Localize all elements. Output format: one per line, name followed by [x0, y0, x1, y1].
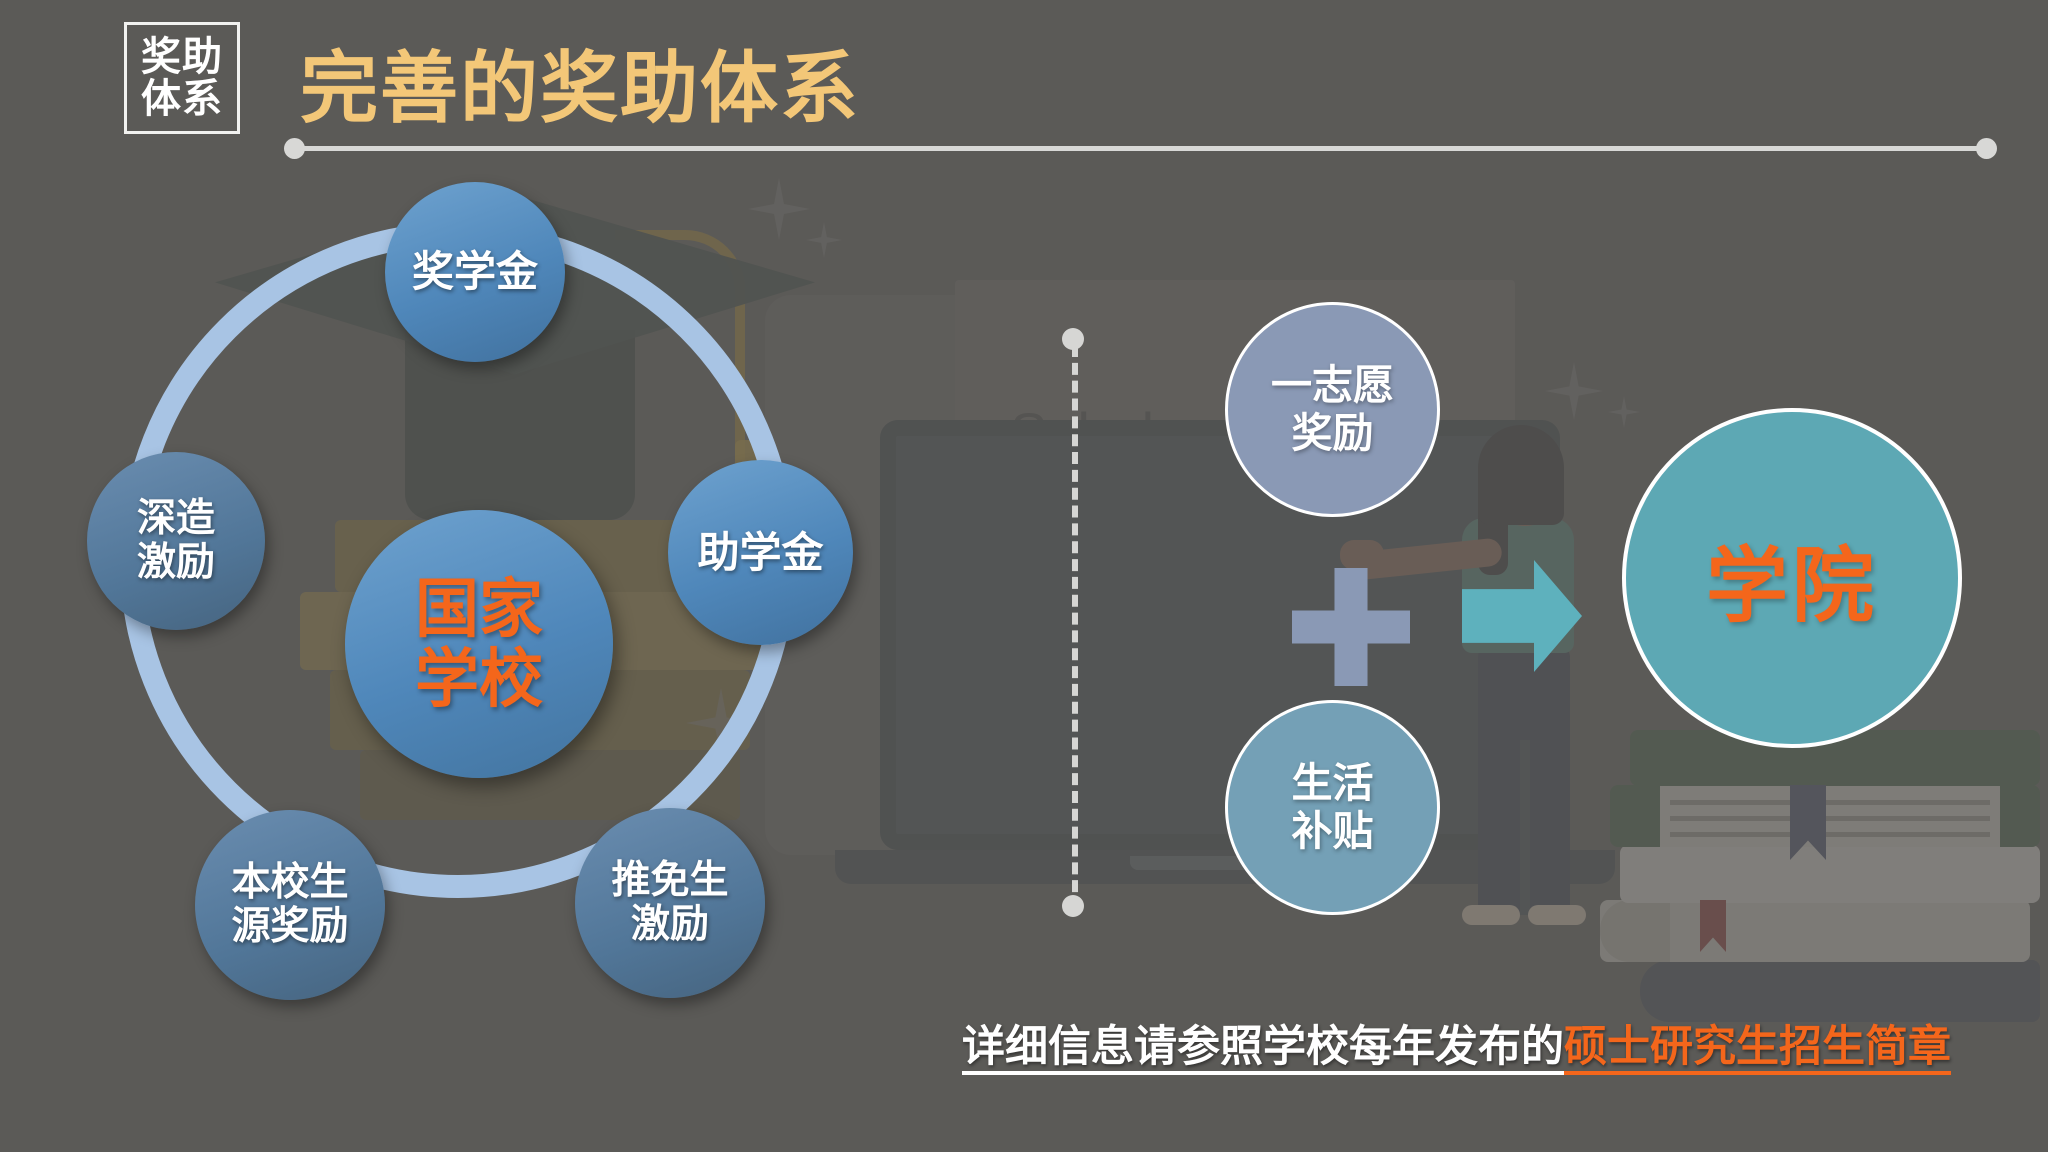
divider-dot-bottom — [1062, 895, 1084, 917]
node-first-choice-award[interactable]: 一志愿 奖励 — [1225, 302, 1440, 517]
node-living-allowance[interactable]: 生活 补贴 — [1225, 700, 1440, 915]
header-divider-dot-right — [1976, 138, 1997, 159]
footer-note-highlight[interactable]: 硕士研究生招生简章 — [1564, 1023, 1951, 1075]
node-advancement-line1: 深造 — [137, 497, 215, 541]
node-living-line2: 补贴 — [1292, 808, 1374, 855]
divider-dot-top — [1062, 328, 1084, 350]
node-college-label: 学院 — [1706, 519, 1878, 638]
presentation-slide: Scholars — [0, 0, 2048, 1152]
node-home-source-line1: 本校生 — [231, 861, 348, 905]
node-recommended-exemption-incentive[interactable]: 推免生 激励 — [575, 808, 765, 998]
node-living-line1: 生活 — [1292, 760, 1374, 807]
node-core-line1: 国家 — [415, 574, 543, 644]
vertical-dashed-divider — [1072, 345, 1078, 910]
section-badge-line1: 奖助 — [141, 36, 223, 78]
node-core-line2: 学校 — [415, 644, 543, 714]
node-advancement-incentive[interactable]: 深造 激励 — [87, 452, 265, 630]
footer-note-plain: 详细信息请参照学校每年发布的 — [962, 1023, 1564, 1075]
section-badge-line2: 体系 — [141, 78, 223, 120]
node-first-choice-line1: 一志愿 — [1271, 362, 1394, 409]
node-college[interactable]: 学院 — [1622, 408, 1962, 748]
node-advancement-line2: 激励 — [137, 541, 215, 585]
node-exemption-line1: 推免生 — [611, 859, 728, 903]
node-scholarship[interactable]: 奖学金 — [385, 182, 565, 362]
header-divider-dot-left — [284, 138, 305, 159]
node-exemption-line2: 激励 — [631, 903, 709, 947]
node-grant-label: 助学金 — [697, 529, 823, 576]
footer-note: 详细信息请参照学校每年发布的硕士研究生招生简章 — [962, 1012, 1951, 1074]
page-title: 完善的奖助体系 — [300, 26, 860, 138]
node-home-source-line2: 源奖励 — [231, 905, 348, 949]
node-first-choice-line2: 奖励 — [1292, 410, 1374, 457]
node-core-national-school[interactable]: 国家 学校 — [345, 510, 613, 778]
node-grant[interactable]: 助学金 — [668, 460, 853, 645]
node-home-source-award[interactable]: 本校生 源奖励 — [195, 810, 385, 1000]
header-divider-line — [288, 146, 1988, 151]
node-scholarship-label: 奖学金 — [412, 248, 538, 295]
section-badge: 奖助 体系 — [124, 22, 240, 134]
